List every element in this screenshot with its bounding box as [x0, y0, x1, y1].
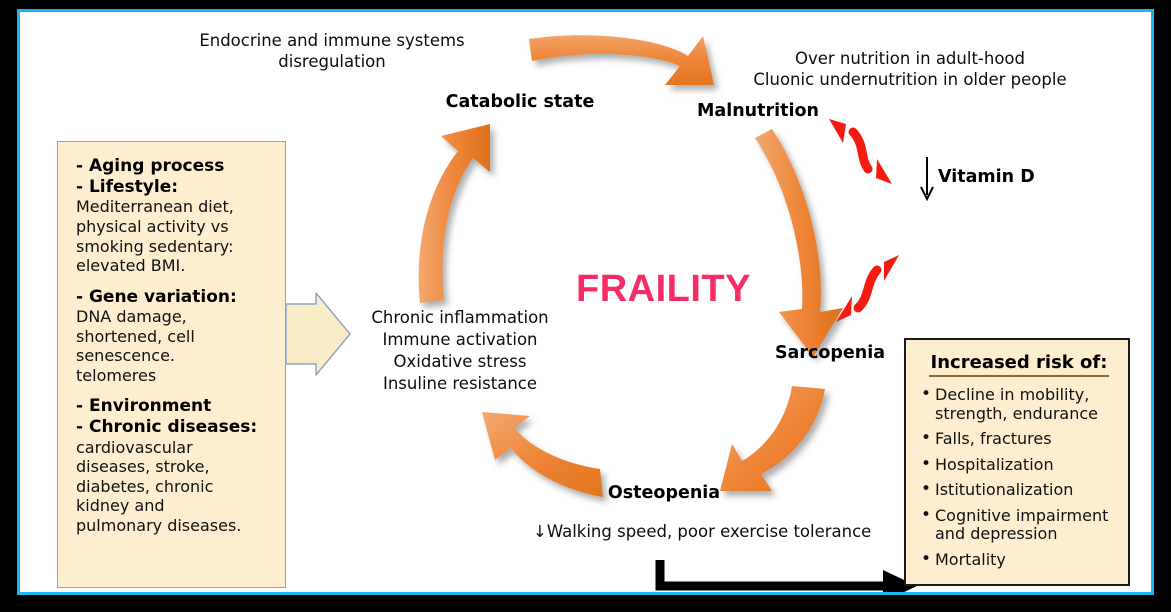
arrow-outcomes	[660, 560, 917, 592]
node-osteopenia: Osteopenia	[584, 483, 744, 503]
arrow-vitamind-decrease	[921, 157, 933, 199]
risk-factor-body-0: Mediterranean diet, physical activity vs…	[76, 197, 273, 275]
risk-factor-heading-1: - Gene variation:	[76, 287, 273, 308]
increased-risk-list: Decline in mobility, strength, endurance…	[920, 386, 1118, 569]
arrow-center-to-catabolic	[419, 124, 490, 303]
risk-factor-body-2: cardiovascular diseases, stroke, diabete…	[76, 438, 273, 536]
risk-factor-body-1: DNA damage, shortened, cell senescence. …	[76, 307, 273, 385]
risk-factor-heading-2: - Environment - Chronic diseases:	[76, 396, 273, 437]
list-item: Decline in mobility, strength, endurance	[920, 386, 1118, 423]
arrow-sarcopenia-to-osteopenia	[720, 386, 825, 491]
list-item: Hospitalization	[920, 456, 1118, 475]
list-item: Cognitive impairment and depression	[920, 507, 1118, 544]
diagram-canvas: Endocrine and immune systems disregulati…	[20, 12, 1151, 592]
page-title: FRAILITY	[576, 268, 751, 311]
risk-factors-panel: - Aging process - Lifestyle: Mediterrane…	[57, 141, 286, 588]
arrow-malnutrition-to-sarcopenia	[755, 129, 843, 357]
diagram-frame: Endocrine and immune systems disregulati…	[17, 9, 1154, 595]
increased-risk-panel: Increased risk of: Decline in mobility, …	[904, 338, 1130, 586]
list-item: Falls, fractures	[920, 430, 1118, 449]
arrow-vitamind-sarcopenia	[836, 255, 899, 322]
increased-risk-title: Increased risk of:	[929, 352, 1110, 377]
risk-factor-heading-0: - Aging process - Lifestyle:	[76, 156, 273, 197]
node-malnutrition: Malnutrition	[683, 101, 833, 121]
arrow-catabolic-to-malnutrition	[529, 35, 714, 85]
label-vitamin-d: Vitamin D	[938, 167, 1035, 187]
node-catabolic-state: Catabolic state	[420, 92, 620, 112]
list-item: Istitutionalization	[920, 481, 1118, 500]
list-item: Mortality	[920, 551, 1118, 570]
node-sarcopenia: Sarcopenia	[760, 343, 900, 363]
arrow-risk-factors-to-center	[286, 293, 350, 375]
arrow-malnutrition-vitamind	[829, 119, 892, 184]
label-central-mechanisms: Chronic inflammation Immune activation O…	[345, 307, 575, 395]
label-walking-speed: ↓Walking speed, poor exercise tolerance	[533, 521, 871, 542]
label-endocrine-disregulation: Endocrine and immune systems disregulati…	[187, 30, 477, 72]
label-nutrition-notes: Over nutrition in adult-hood Cluonic und…	[735, 48, 1085, 90]
